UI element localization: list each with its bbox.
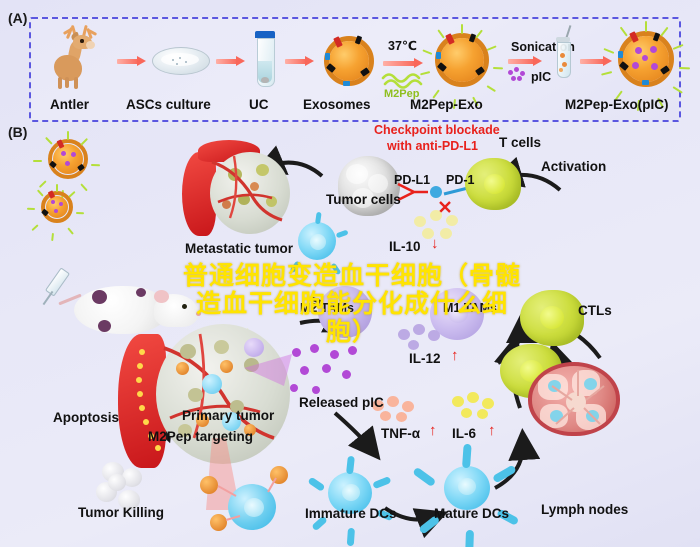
panel-a-tag: (A)	[8, 10, 27, 26]
watermark-line-2: 造血干细胞能分化成什么细胞）	[182, 290, 522, 346]
il-10-dots	[414, 210, 468, 242]
il-10-label-group: IL-10 ↓	[389, 238, 421, 256]
lymph-node-icon	[528, 362, 620, 436]
il-6-dots	[452, 392, 498, 422]
figure-canvas: (A)	[0, 0, 700, 547]
step-label-m2pep-exo: M2Pep-Exo	[410, 98, 483, 112]
tnf-alpha-name: TNF-α	[381, 426, 420, 441]
il-12-name: IL-12	[409, 351, 441, 366]
process-arrow	[508, 57, 542, 66]
pd-l1-label: PD-L1	[394, 174, 430, 187]
process-arrow	[216, 57, 245, 66]
il-10-arrow: ↓	[431, 236, 439, 251]
process-arrow	[285, 57, 314, 66]
centrifuge-tube-icon	[255, 31, 275, 87]
process-arrow	[117, 57, 146, 66]
immature-dcs-label: Immature DCs	[305, 507, 397, 521]
checkpoint-blockade-label: Checkpoint blockade	[374, 124, 500, 137]
lymph-nodes-label: Lymph nodes	[541, 503, 628, 517]
apoptosis-label: Apoptosis	[53, 411, 119, 425]
il-12-arrow: ↑	[451, 348, 459, 363]
t-cells-label: T cells	[499, 136, 541, 150]
tnf-alpha-arrow: ↑	[429, 423, 437, 438]
il-6-label-group: IL-6 ↑	[452, 425, 476, 443]
m2pep-targeting-icon	[196, 466, 296, 536]
step-label-exosomes: Exosomes	[303, 98, 371, 112]
exosome-icon	[323, 35, 375, 87]
temperature-label: 37℃	[388, 40, 417, 53]
exosome-particle	[40, 190, 74, 224]
step-label-uc: UC	[249, 98, 269, 112]
mature-dcs-label: Mature DCs	[434, 507, 509, 521]
step-label-m2pep-exo-pic: M2Pep-Exo(pIC)	[565, 98, 669, 112]
anti-pdl1-label: with anti-PD-L1	[387, 140, 478, 153]
immune-cell-icon	[290, 214, 344, 268]
il-6-arrow: ↑	[488, 423, 496, 438]
exosome-particle	[47, 138, 89, 180]
pic-cluster-icon	[508, 67, 526, 83]
deer-icon	[43, 25, 113, 87]
peptide-exosome-icon	[434, 32, 490, 88]
metastatic-tumor-label: Metastatic tumor	[185, 242, 293, 256]
tnf-alpha-label-group: TNF-α ↑	[381, 425, 420, 443]
process-arrow	[580, 57, 612, 66]
primary-tumor-label: Primary tumor	[182, 409, 274, 423]
petri-dish-icon	[152, 47, 208, 73]
panel-a-container: 37℃ M2Pep	[29, 17, 681, 122]
activation-label: Activation	[541, 160, 606, 174]
m2pep-targeting-label: M2Pep targeting	[148, 430, 253, 444]
il-6-name: IL-6	[452, 426, 476, 441]
tumor-killing-label: Tumor Killing	[78, 506, 164, 520]
released-pic-label: Released pIC	[299, 396, 384, 410]
loaded-exosome-icon	[617, 30, 675, 88]
pic-label: pIC	[531, 71, 551, 84]
pd-1-label: PD-1	[446, 174, 474, 187]
step-label-antler: Antler	[50, 98, 89, 112]
ctl-cell-icon	[520, 290, 584, 346]
watermark-line-1: 普通细胞变造血干细胞（骨髄	[182, 262, 522, 290]
sonication-tube-icon	[554, 37, 574, 79]
il-12-label-group: IL-12 ↑	[409, 350, 441, 368]
il-10-name: IL-10	[389, 239, 421, 254]
step-label-ascs-culture: ASCs culture	[126, 98, 211, 112]
tumor-cells-label: Tumor cells	[326, 193, 401, 207]
chinese-watermark-overlay: 普通细胞变造血干细胞（骨髄 造血干细胞能分化成什么细胞）	[182, 262, 522, 346]
tumor-cells-icon	[338, 156, 400, 216]
metastatic-tumor-icon	[182, 138, 292, 250]
process-arrow	[383, 59, 423, 68]
ctls-label: CTLs	[578, 304, 612, 318]
